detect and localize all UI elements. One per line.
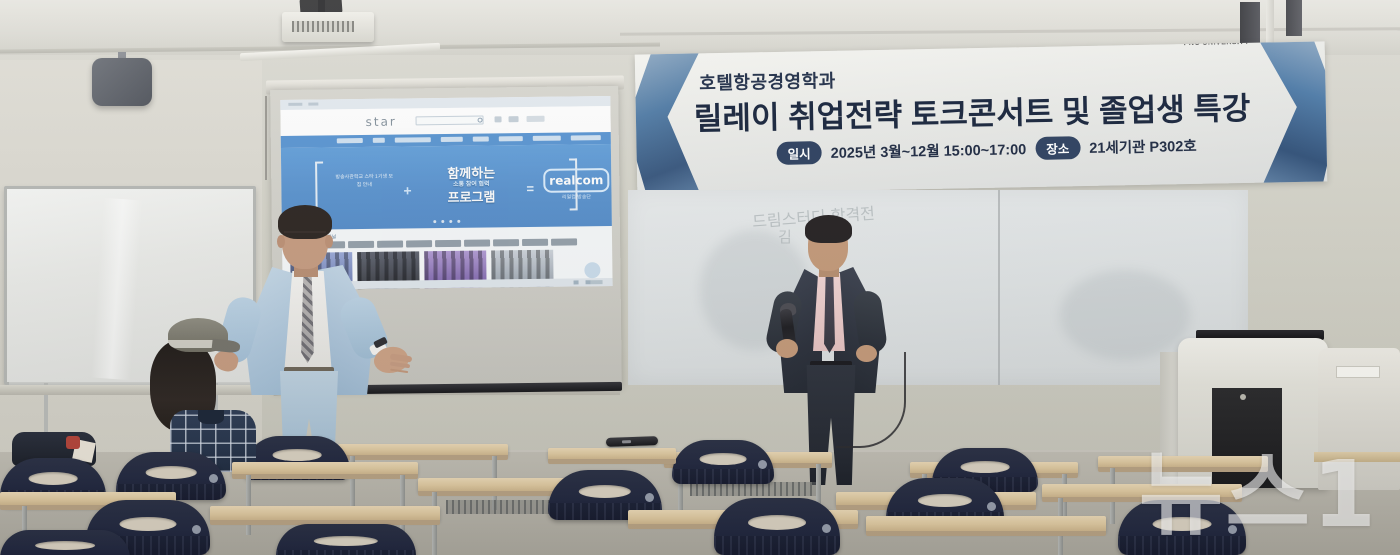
login-link-icon <box>527 116 545 122</box>
speaker-a-ear-right <box>325 235 333 248</box>
red-item-in-bag <box>66 436 80 449</box>
menu-icon <box>509 116 519 122</box>
hero-center-top: 함께하는 <box>447 165 495 181</box>
av-cabinet-dark-panel <box>1212 388 1282 488</box>
desk-edge <box>232 474 418 479</box>
chair-knob <box>192 525 201 534</box>
chair <box>276 524 416 555</box>
chair-handle-hole <box>918 494 972 508</box>
desk-microphone[interactable] <box>606 436 658 447</box>
desk-edge <box>548 459 676 464</box>
search-icon <box>478 118 483 123</box>
chip-life[interactable] <box>464 239 490 246</box>
nav-item-mc[interactable] <box>373 138 385 143</box>
chair <box>714 498 840 555</box>
nav-item-contents[interactable] <box>533 136 561 141</box>
browser-tab-2 <box>308 103 318 106</box>
chair-knob <box>645 493 654 502</box>
chair-knob <box>1228 525 1237 534</box>
desk-leg <box>400 475 405 535</box>
chair <box>672 440 774 484</box>
hero-center-bottom: 프로그램 <box>447 189 495 205</box>
hero-left-caption: 방송사관학교 스타 1기생 모집 안내 <box>333 174 395 203</box>
user-icon <box>495 116 502 122</box>
chair-pleat <box>276 550 416 555</box>
banner-date-pill: 일시 <box>776 141 821 165</box>
ceiling-rail-left <box>1240 2 1260 46</box>
wall-speaker <box>92 58 152 106</box>
chair-handle-hole <box>579 485 631 498</box>
banner-place-pill: 장소 <box>1035 136 1080 160</box>
hero-brand-subtitle: 리얼컴 방송단 <box>543 193 609 201</box>
chair-handle-hole <box>961 461 1010 472</box>
hero-brand-logo: realcom <box>543 168 609 193</box>
desk <box>232 462 418 475</box>
student-cap-brim <box>211 339 240 354</box>
desk-edge <box>866 531 1106 536</box>
nav-item-show[interactable] <box>473 136 489 141</box>
speaker-b-hand-left <box>776 339 798 358</box>
chair-handle-hole <box>700 453 747 464</box>
floating-badge-icon[interactable] <box>584 262 600 278</box>
chair-pleat <box>1118 536 1246 555</box>
chair-pleat <box>672 469 774 484</box>
nav-item-broadcaster[interactable] <box>395 137 431 142</box>
chair <box>1118 500 1246 555</box>
desk <box>210 506 440 521</box>
nav-item-station[interactable] <box>337 138 363 143</box>
site-search-input <box>416 116 484 126</box>
whiteboard-smudge-b <box>1060 270 1190 360</box>
printer-label <box>1336 366 1380 378</box>
lecture-hall-photo: 호텔항공경영학과 릴레이 취업전략 토크콘서트 및 졸업생 특강 일시 2025… <box>0 0 1400 555</box>
chip-sports[interactable] <box>435 240 461 247</box>
speaker-b-hair <box>805 215 852 243</box>
printer-shelf <box>1314 452 1400 462</box>
microphone-switch[interactable] <box>622 440 631 443</box>
browser-tab <box>288 103 302 106</box>
projector-vent <box>292 21 354 32</box>
chair-knob <box>209 474 218 483</box>
carousel-dots[interactable] <box>433 220 460 223</box>
seated-student <box>146 318 258 468</box>
chip-kids[interactable] <box>522 239 548 246</box>
carousel-dot[interactable] <box>433 220 436 223</box>
whiteboard-glare <box>91 198 143 380</box>
site-logo: star <box>365 115 396 129</box>
desk <box>866 516 1106 532</box>
desk-edge <box>338 455 508 460</box>
chair-handle-hole <box>29 472 78 484</box>
chair-handle-hole <box>119 517 176 531</box>
ceiling-projector <box>282 12 374 42</box>
carousel-dot[interactable] <box>449 220 452 223</box>
student-collar <box>198 410 224 424</box>
chair-pleat <box>714 536 840 555</box>
ceiling-rail-right <box>1286 0 1302 36</box>
chair-knob <box>987 502 996 511</box>
desk <box>548 448 676 460</box>
hero-center-text: 함께하는 소통 참여 협력 프로그램 <box>423 165 519 206</box>
chair-handle-hole <box>748 515 806 530</box>
banner-title: 릴레이 취업전략 토크콘서트 및 졸업생 특강 <box>693 83 1250 139</box>
speaker-a-glasses <box>284 231 326 240</box>
taskbar-clock <box>591 280 603 284</box>
hero-plus-sign: + <box>403 182 411 198</box>
banner-place-value: 21세기관 P302호 <box>1089 135 1197 158</box>
chair-handle-hole <box>314 536 378 546</box>
screen-cord <box>265 96 267 180</box>
chair-handle-hole <box>146 466 197 478</box>
banner-meta: 일시 2025년 3월~12월 15:00~17:00 장소 21세기관 P30… <box>776 134 1196 165</box>
taskbar-icon <box>574 280 579 284</box>
whiteboard-divider <box>998 190 1000 385</box>
carousel-dot[interactable] <box>441 220 444 223</box>
carousel-dot[interactable] <box>457 220 460 223</box>
chair-handle-hole <box>1153 517 1212 531</box>
chip-news[interactable] <box>493 239 519 246</box>
desk-edge <box>1098 467 1268 472</box>
nav-item-drama[interactable] <box>441 137 463 142</box>
chip-culture[interactable] <box>406 240 432 247</box>
nav-item-sports[interactable] <box>499 136 523 141</box>
chair-handle-hole <box>273 449 322 460</box>
desk-basket <box>690 482 816 496</box>
chip-special[interactable] <box>551 238 577 245</box>
av-cabinet-knob <box>1240 394 1246 400</box>
chair-knob <box>822 524 831 533</box>
desk <box>1098 456 1268 468</box>
chair-handle-hole <box>35 541 95 550</box>
university-logo: PINNACTION PNC UNIVERSITY <box>1156 41 1277 68</box>
nav-item-channel-tv[interactable] <box>571 135 601 140</box>
hero-equals-sign: = <box>526 181 534 196</box>
desk <box>338 444 508 456</box>
event-banner: 호텔항공경영학과 릴레이 취업전략 토크콘서트 및 졸업생 특강 일시 2025… <box>635 41 1328 194</box>
desk <box>1042 484 1242 498</box>
banner-date-value: 2025년 3월~12월 15:00~17:00 <box>830 138 1026 163</box>
desk-leg <box>246 475 251 535</box>
chair-knob <box>758 460 767 469</box>
chair <box>0 530 130 555</box>
